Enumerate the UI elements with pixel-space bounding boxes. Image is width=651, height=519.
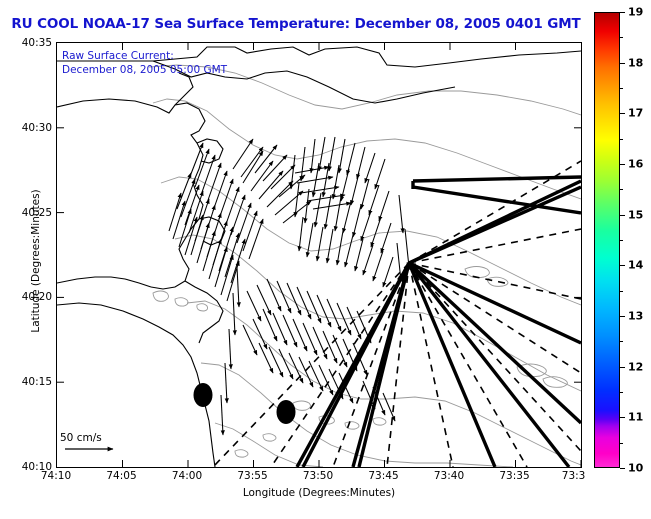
- radar-station-marker-west: [194, 383, 213, 407]
- colorbar-tick-16: 16: [628, 158, 643, 171]
- radar-radials-solid: [297, 181, 581, 467]
- map-plot-area[interactable]: [56, 42, 582, 468]
- colorbar-tick-10: 10: [628, 462, 643, 475]
- x-tick-3: 73:55: [237, 470, 267, 482]
- y-tick-1: 40:30: [22, 122, 52, 134]
- map-canvas: [57, 43, 581, 467]
- x-tick-6: 73:40: [434, 470, 464, 482]
- coastline: [57, 47, 581, 467]
- sst-map-figure: RU COOL NOAA-17 Sea Surface Temperature:…: [0, 0, 651, 519]
- colorbar: [594, 12, 620, 468]
- x-tick-2: 74:00: [172, 470, 202, 482]
- radar-station-marker-east: [277, 400, 296, 424]
- annotation-line-1: Raw Surface Current:: [62, 49, 174, 63]
- x-tick-4: 73:50: [303, 470, 333, 482]
- x-axis-title: Longitude (Degrees:Minutes): [56, 487, 582, 499]
- colorbar-tick-18: 18: [628, 56, 643, 69]
- figure-title: RU COOL NOAA-17 Sea Surface Temperature:…: [0, 16, 592, 32]
- x-tick-8: 73:3: [562, 470, 586, 482]
- colorbar-tick-13: 13: [628, 310, 643, 323]
- scale-legend-label: 50 cm/s: [60, 432, 102, 444]
- colorbar-tick-17: 17: [628, 107, 643, 120]
- y-axis-title: Latitude (Degrees:Minutes): [30, 141, 42, 381]
- bathymetry-contours: [149, 65, 581, 467]
- y-tick-5: 40:10: [22, 461, 52, 473]
- x-tick-7: 73:35: [499, 470, 529, 482]
- radar-radial-rail: [413, 177, 581, 213]
- x-tick-5: 73:45: [368, 470, 398, 482]
- colorbar-tick-14: 14: [628, 259, 643, 272]
- x-tick-1: 74:05: [106, 470, 136, 482]
- annotation-line-2: December 08, 2005 05:00 GMT: [62, 63, 227, 77]
- colorbar-tick-15: 15: [628, 208, 643, 221]
- colorbar-tick-12: 12: [628, 360, 643, 373]
- axis-ticks-inner: [57, 43, 581, 467]
- colorbar-tick-19: 19: [628, 6, 643, 19]
- colorbar-tick-11: 11: [628, 411, 643, 424]
- y-tick-0: 40:35: [22, 37, 52, 49]
- radar-station-markers: [194, 383, 296, 424]
